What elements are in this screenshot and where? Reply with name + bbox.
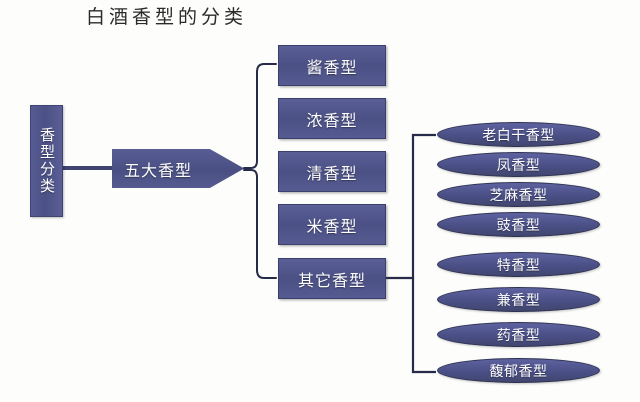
other-type-ellipse-2[interactable]: 凤香型 [437,152,600,177]
other-type-ellipse-3[interactable]: 芝麻香型 [437,182,600,207]
type-box-1[interactable]: 酱香型 [278,45,386,86]
other-type-ellipse-4[interactable]: 豉香型 [437,212,600,237]
type-box-5-other[interactable]: 其它香型 [278,258,386,299]
type-box-4[interactable]: 米香型 [278,204,386,245]
other-type-ellipse-8[interactable]: 馥郁香型 [437,358,600,383]
root-node-category[interactable]: 香型分类 [30,105,63,217]
type-box-2[interactable]: 浓香型 [278,98,386,139]
other-type-ellipse-5[interactable]: 特香型 [437,252,600,277]
diagram-canvas: 白酒香型的分类 香型分类 五大香型 酱香型 浓香型 清香型 米香型 其它香型 老… [0,0,640,402]
connector-brace-five-types-lower [244,170,276,278]
other-type-ellipse-1[interactable]: 老白干香型 [437,122,600,147]
other-type-ellipse-7[interactable]: 药香型 [437,322,600,347]
branch-node-five-types[interactable]: 五大香型 [112,149,244,188]
connector-bracket-other-types-lower [413,278,436,372]
page-title: 白酒香型的分类 [86,2,247,29]
type-box-3[interactable]: 清香型 [278,151,386,192]
connector-bracket-other-types [386,135,436,278]
connector-brace-five-types [244,64,276,168]
other-type-ellipse-6[interactable]: 兼香型 [437,287,600,312]
